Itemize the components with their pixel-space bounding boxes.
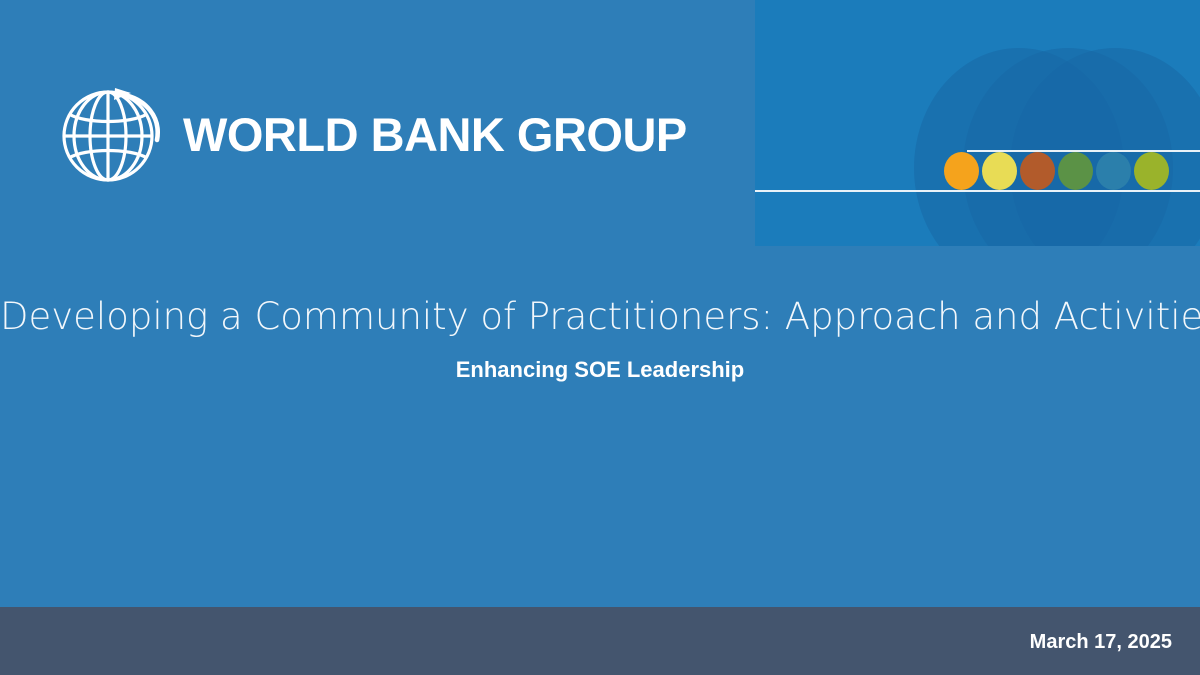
- dot-yellow: [982, 152, 1017, 190]
- dot-green: [1058, 152, 1093, 190]
- dot-rust: [1020, 152, 1055, 190]
- dot-blue: [1096, 152, 1131, 190]
- footer-date: March 17, 2025: [1030, 631, 1172, 654]
- decorative-rule-bottom: [755, 190, 1200, 192]
- dot-olive: [1134, 152, 1169, 190]
- decorative-panel: [755, 0, 1200, 246]
- title-area: Developing a Community of Practitioners:…: [0, 296, 1200, 383]
- dot-orange: [944, 152, 979, 190]
- slide-subtitle: Enhancing SOE Leadership: [0, 357, 1200, 383]
- world-bank-globe-icon: [55, 78, 167, 190]
- decorative-dot-row: [944, 152, 1169, 190]
- logo-wordmark: WORLD BANK GROUP: [183, 111, 687, 158]
- footer-bar: March 17, 2025: [0, 607, 1200, 675]
- title-slide: WORLD BANK GROUP Developing a Community …: [0, 0, 1200, 675]
- world-bank-group-logo: WORLD BANK GROUP: [55, 78, 687, 190]
- slide-title: Developing a Community of Practitioners:…: [0, 296, 1200, 339]
